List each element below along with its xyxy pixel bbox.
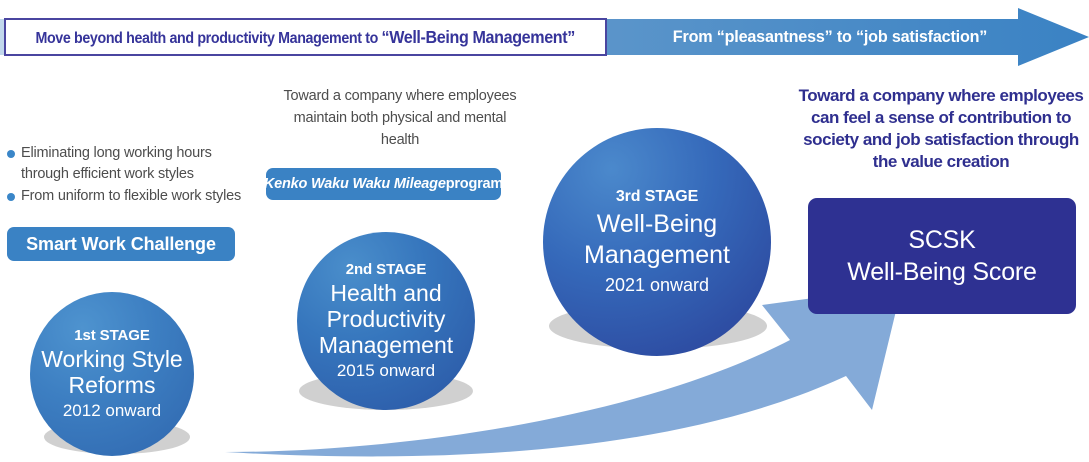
smart-work-challenge-badge: Smart Work Challenge: [7, 227, 235, 261]
stage-1-title-line2: Reforms: [69, 372, 156, 398]
bullet-dot-icon: [7, 150, 15, 158]
list-item: Eliminating long working hours through e…: [4, 143, 256, 185]
stage-3-title-line2: Management: [584, 240, 730, 271]
banner-left-text-plain: Move beyond health and productivity Mana…: [36, 30, 382, 47]
banner-left-box: Move beyond health and productivity Mana…: [4, 18, 607, 56]
list-item: From uniform to flexible work styles: [4, 186, 256, 207]
infographic-canvas: Move beyond health and productivity Mana…: [0, 0, 1089, 462]
stage-circle-2: 2nd STAGE Health and Productivity Manage…: [297, 232, 475, 410]
bullet-dot-icon: [7, 193, 15, 201]
middle-caption: Toward a company where employees maintai…: [275, 85, 525, 151]
banner-left-text: Move beyond health and productivity Mana…: [36, 27, 575, 48]
stage-2-title-line2: Productivity: [327, 306, 446, 332]
stage-2-title-line3: Management: [319, 332, 453, 358]
left-bullet-list: Eliminating long working hours through e…: [4, 143, 256, 208]
scsk-score-line2: Well-Being Score: [847, 256, 1036, 288]
stage-circle-1: 1st STAGE Working Style Reforms 2012 onw…: [30, 292, 194, 456]
stage-circle-3: 3rd STAGE Well-Being Management 2021 onw…: [543, 128, 771, 356]
stage-2-date: 2015 onward: [337, 361, 435, 381]
stage-3-label: 3rd STAGE: [616, 188, 698, 206]
banner-right-text: From “pleasantness” to “job satisfaction…: [631, 20, 1030, 54]
bullet-text: From uniform to flexible work styles: [21, 186, 241, 207]
kenko-mileage-italic-part: Kenko Waku Waku Mileage: [264, 176, 446, 192]
right-caption: Toward a company where employees can fee…: [795, 85, 1087, 173]
stage-2-label: 2nd STAGE: [346, 261, 427, 278]
kenko-mileage-roman-part: program: [446, 176, 503, 192]
stage-3-date: 2021 onward: [605, 275, 709, 296]
scsk-wellbeing-score-box: SCSK Well-Being Score: [808, 198, 1076, 314]
stage-3-title-line1: Well-Being: [597, 209, 717, 240]
scsk-score-line1: SCSK: [847, 224, 1036, 256]
banner-left-text-emphasis: “Well-Being Management”: [382, 27, 575, 47]
bullet-text: Eliminating long working hours through e…: [21, 143, 256, 185]
stage-1-date: 2012 onward: [63, 401, 161, 421]
stage-1-label: 1st STAGE: [74, 327, 150, 344]
stage-1-title-line1: Working Style: [41, 346, 182, 372]
kenko-mileage-program-badge: Kenko Waku Waku Mileage program: [266, 168, 501, 200]
stage-2-title-line1: Health and: [330, 280, 441, 306]
